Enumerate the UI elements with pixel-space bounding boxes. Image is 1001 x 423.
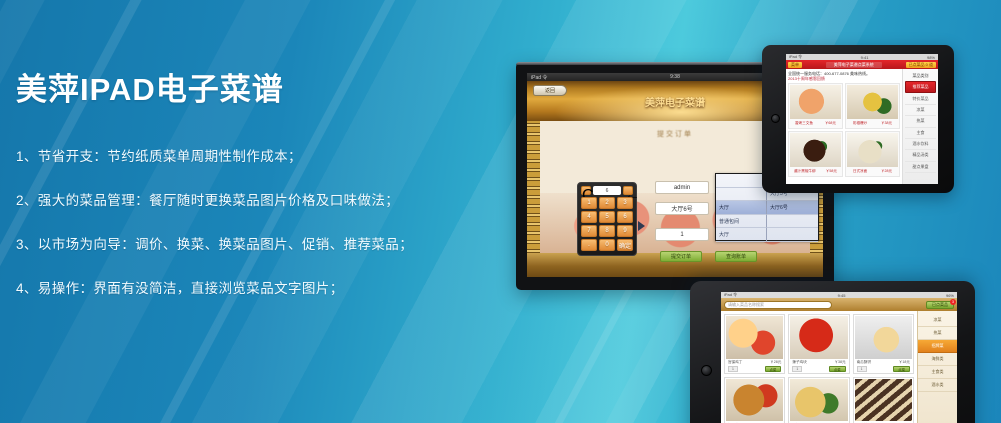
- table-row-area[interactable]: 大厅: [716, 201, 767, 215]
- dish-actions: 1 点菜: [790, 366, 847, 373]
- keypad-value-field[interactable]: 6: [593, 186, 621, 195]
- dish-photo: [855, 379, 912, 422]
- arrow-icon: [638, 221, 645, 231]
- submit-order-button[interactable]: 提交订单: [660, 251, 702, 262]
- sidebar-item-dessert[interactable]: 甜点果盘: [905, 162, 936, 173]
- status-carrier: iPad 令: [531, 74, 547, 81]
- home-button[interactable]: [771, 114, 780, 123]
- quantity-stepper[interactable]: 1: [857, 366, 867, 372]
- dish-caption: 酱汁黑椒牛柳 ￥58元: [789, 167, 842, 176]
- dish-card[interactable]: 宫保鸡丁 ￥28元 1 点菜: [724, 314, 785, 374]
- sidebar-item-hot[interactable]: 热菜: [905, 116, 936, 127]
- table-row-name[interactable]: [767, 215, 818, 229]
- dish-grid: 全国统一服务电话：400-677-0876 美味热线。 2013十周年感恩回馈 …: [786, 69, 902, 184]
- sidebar-item-drinks[interactable]: 酒水类: [918, 379, 957, 392]
- keypad-display-row: C 6 ←: [581, 186, 633, 195]
- dish-card[interactable]: 爆炒肉丁 ￥32元 1 点菜: [724, 377, 785, 423]
- keypad-key[interactable]: .: [581, 239, 597, 251]
- dish-card[interactable]: 辣子鸡块 ￥38元 1 点菜: [788, 314, 849, 374]
- keypad-key[interactable]: 0: [599, 239, 615, 251]
- dish-cells: 香烤三文鱼 ￥68元 彩椒爆炒 ￥38元: [788, 83, 900, 177]
- keypad-key[interactable]: 3: [617, 197, 633, 209]
- keypad-key[interactable]: 2: [599, 197, 615, 209]
- sidebar-item-recommended[interactable]: 推荐菜品: [905, 81, 936, 93]
- search-input[interactable]: 请输入菜品名称搜索: [724, 301, 832, 309]
- dish-name: 宫保鸡丁: [728, 360, 742, 365]
- dish-photo: [790, 316, 847, 359]
- people-count-field[interactable]: 1: [655, 228, 709, 241]
- content-area: 全国统一服务电话：400-677-0876 美味热线。 2013十周年感恩回馈 …: [786, 69, 938, 184]
- sidebar-item-special[interactable]: 特价菜品: [905, 93, 936, 104]
- sidebar-item-staple[interactable]: 主食: [905, 128, 936, 139]
- dish-price: ￥18元: [899, 360, 910, 365]
- dish-price: ￥28元: [881, 169, 892, 174]
- dish-price: ￥28元: [770, 360, 781, 365]
- promo-copy: 美萍IPAD电子菜谱 1、节省开支：节约纸质菜单周期性制作成本； 2、强大的菜品…: [16, 68, 446, 298]
- greek-key-border-left: [527, 121, 540, 253]
- tablet-top-right-screen: iPad 令 9:41 98% 菜单 美萍电子菜谱点菜系统 已点菜品 0 道 全…: [786, 54, 938, 184]
- app-title: 美萍电子菜谱点菜系统: [826, 62, 882, 68]
- status-battery: 96%: [946, 293, 954, 298]
- status-time: 9:38: [670, 74, 680, 80]
- dish-name: 彩椒爆炒: [853, 121, 867, 126]
- dish-caption: 日式凉面 ￥28元: [846, 167, 899, 176]
- status-time: 9:45: [838, 293, 846, 298]
- page-title: 美萍IPAD电子菜谱: [16, 68, 446, 112]
- keypad-key[interactable]: 8: [599, 225, 615, 237]
- dish-actions: 1 点菜: [855, 366, 912, 373]
- table-field[interactable]: 大厅6号: [655, 202, 709, 215]
- status-time: 9:41: [861, 55, 869, 60]
- table-row-name[interactable]: 大厅6号: [767, 201, 818, 215]
- sidebar-item-cold[interactable]: 凉菜: [918, 314, 957, 327]
- dish-caption: 香烤三文鱼 ￥68元: [789, 119, 842, 128]
- content-area: 宫保鸡丁 ￥28元 1 点菜 辣子鸡块 ￥38元: [721, 311, 957, 423]
- keypad-clear-button[interactable]: C: [581, 186, 591, 195]
- menu-button[interactable]: 菜单: [788, 62, 802, 68]
- dish-caption: 彩椒爆炒 ￥38元: [846, 119, 899, 128]
- benefit-item-1: 1、节省开支：节约纸质菜单周期性制作成本；: [16, 148, 446, 166]
- dish-photo: [726, 379, 783, 422]
- keypad-key[interactable]: 1: [581, 197, 597, 209]
- operator-field[interactable]: admin: [655, 181, 709, 194]
- dish-photo: [790, 133, 841, 167]
- sidebar-item-signature[interactable]: 招牌菜: [918, 340, 957, 353]
- category-sidebar: 菜品类别 推荐菜品 特价菜品 凉菜 热菜 主食 酒水饮料 精品汤类 甜点果盘: [902, 69, 938, 184]
- home-button[interactable]: [701, 365, 712, 376]
- keypad-key[interactable]: 5: [599, 211, 615, 223]
- quantity-stepper[interactable]: 1: [792, 366, 802, 372]
- sidebar-item-hot[interactable]: 热菜: [918, 327, 957, 340]
- dish-photo: [855, 316, 912, 359]
- status-battery: 98%: [927, 55, 935, 60]
- cart-badge: 3: [950, 299, 956, 305]
- status-carrier: iPad 令: [789, 54, 802, 60]
- dish-price: ￥38元: [881, 121, 892, 126]
- dish-actions: 1 点菜: [726, 366, 783, 373]
- query-bill-button[interactable]: 查询账单: [715, 251, 757, 262]
- dish-grid: 宫保鸡丁 ￥28元 1 点菜 辣子鸡块 ￥38元: [721, 311, 917, 423]
- category-sidebar: 凉菜 热菜 招牌菜 海鲜类 主食类 酒水类: [917, 311, 957, 423]
- sidebar-header: 菜品类别: [905, 71, 936, 81]
- quantity-stepper[interactable]: 1: [728, 366, 738, 372]
- add-dish-button[interactable]: 点菜: [765, 366, 782, 372]
- tablet-bottom-right-device: iPad 令 9:45 96% 请输入菜品名称搜索 已点菜品 3 宫保鸡丁: [690, 281, 975, 423]
- add-dish-button[interactable]: 点菜: [829, 366, 846, 372]
- dish-photo: [847, 85, 898, 119]
- dish-card[interactable]: 酱汁黑椒牛柳 ￥58元: [788, 131, 843, 177]
- keypad-key[interactable]: 4: [581, 211, 597, 223]
- dish-name: 香烤三文鱼: [795, 121, 813, 126]
- tablet-top-right-device: iPad 令 9:41 98% 菜单 美萍电子菜谱点菜系统 已点菜品 0 道 全…: [762, 45, 954, 193]
- table-row-area[interactable]: [716, 174, 767, 188]
- dish-card[interactable]: 南瓜酥饼 ￥18元 1 点菜: [853, 314, 914, 374]
- dish-name: 日式凉面: [853, 169, 867, 174]
- dish-photo: [790, 85, 841, 119]
- sidebar-item-drinks[interactable]: 酒水饮料: [905, 139, 936, 150]
- numeric-keypad[interactable]: C 6 ← 1 2 3 4 5 6 7 8 9 . 0 确定: [577, 182, 637, 256]
- dish-card[interactable]: 青椒炒蛋 ￥22元 1 点菜: [788, 377, 849, 423]
- sidebar-item-cold[interactable]: 凉菜: [905, 105, 936, 116]
- benefit-item-3: 3、以市场为向导：调价、换菜、换菜品图片、促销、推荐菜品；: [16, 236, 446, 254]
- backspace-icon[interactable]: ←: [623, 186, 633, 195]
- order-cart-button[interactable]: 已点菜品 0 道: [906, 62, 936, 68]
- table-row-area[interactable]: 大厅: [716, 228, 767, 242]
- dish-card[interactable]: 黑森林蛋糕 ￥26元 1 点菜: [853, 377, 914, 423]
- dish-card[interactable]: 香烤三文鱼 ￥68元: [788, 83, 843, 129]
- table-row-area[interactable]: [716, 188, 767, 202]
- add-dish-button[interactable]: 点菜: [893, 366, 910, 372]
- keypad-key[interactable]: 7: [581, 225, 597, 237]
- app-top-bar: 菜单 美萍电子菜谱点菜系统 已点菜品 0 道: [786, 60, 938, 69]
- sidebar-item-seafood[interactable]: 海鲜类: [918, 353, 957, 366]
- table-row-name[interactable]: [767, 228, 818, 242]
- sidebar-item-soup[interactable]: 精品汤类: [905, 150, 936, 161]
- sidebar-item-staple[interactable]: 主食类: [918, 366, 957, 379]
- benefit-item-2: 2、强大的菜品管理：餐厅随时更换菜品图片价格及口味做法；: [16, 192, 446, 210]
- dish-price: ￥58元: [826, 169, 837, 174]
- dish-card[interactable]: 彩椒爆炒 ￥38元: [845, 83, 900, 129]
- dish-photo: [790, 379, 847, 422]
- dish-name: 酱汁黑椒牛柳: [794, 169, 816, 174]
- notice-sub: 2013十周年感恩回馈: [788, 76, 900, 81]
- dish-name: 南瓜酥饼: [857, 360, 871, 365]
- promo-banner: 美萍IPAD电子菜谱 1、节省开支：节约纸质菜单周期性制作成本； 2、强大的菜品…: [0, 0, 1001, 423]
- tablet-bottom-right-screen: iPad 令 9:45 96% 请输入菜品名称搜索 已点菜品 3 宫保鸡丁: [721, 292, 957, 423]
- notice-text: 全国统一服务电话：400-677-0876 美味热线。 2013十周年感恩回馈: [788, 71, 900, 81]
- keypad-grid: 1 2 3 4 5 6 7 8 9 . 0 确定: [581, 197, 633, 251]
- dish-price: ￥38元: [834, 360, 845, 365]
- dish-price: ￥68元: [825, 121, 836, 126]
- dish-card[interactable]: 日式凉面 ￥28元: [845, 131, 900, 177]
- status-carrier: iPad 令: [724, 292, 737, 298]
- order-cart-label: 已点菜品: [932, 302, 948, 308]
- dish-name: 辣子鸡块: [792, 360, 806, 365]
- table-row-area[interactable]: 普通包间: [716, 215, 767, 229]
- dish-photo: [847, 133, 898, 167]
- keypad-key[interactable]: 9: [617, 225, 633, 237]
- keypad-key[interactable]: 6: [617, 211, 633, 223]
- keypad-confirm-key[interactable]: 确定: [617, 239, 633, 251]
- dish-photo: [726, 316, 783, 359]
- order-cart-button[interactable]: 已点菜品 3: [926, 301, 954, 309]
- app-toolbar: 请输入菜品名称搜索 已点菜品 3: [721, 298, 957, 311]
- benefit-item-4: 4、易操作：界面有没简洁，直接浏览菜品文字图片；: [16, 280, 446, 298]
